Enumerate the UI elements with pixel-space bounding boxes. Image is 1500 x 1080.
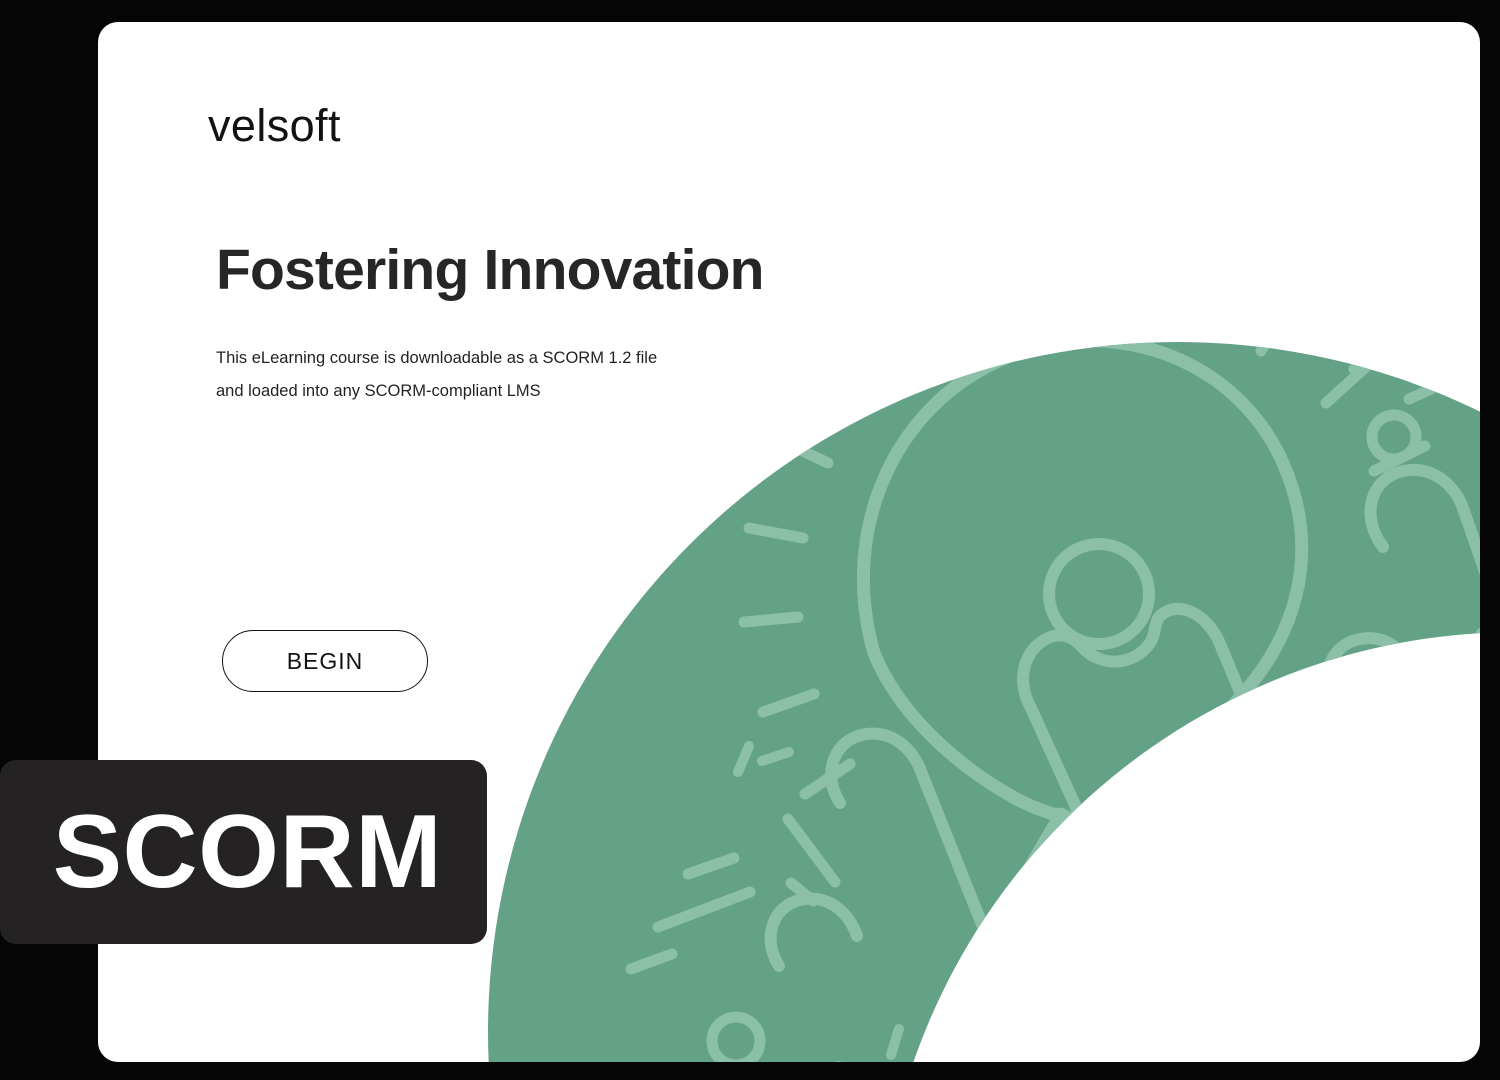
begin-button[interactable]: BEGIN: [222, 630, 428, 692]
course-description-line-1: This eLearning course is downloadable as…: [216, 342, 836, 375]
velsoft-logo: velsoft: [208, 103, 341, 148]
page-root: velsoft Fostering Innovation This eLearn…: [0, 0, 1500, 1080]
scorm-badge: SCORM: [0, 760, 487, 944]
scorm-badge-label: SCORM: [45, 800, 443, 904]
course-description-line-2: and loaded into any SCORM-compliant LMS: [216, 375, 836, 408]
page-title: Fostering Innovation: [216, 239, 764, 302]
course-description: This eLearning course is downloadable as…: [216, 342, 836, 408]
